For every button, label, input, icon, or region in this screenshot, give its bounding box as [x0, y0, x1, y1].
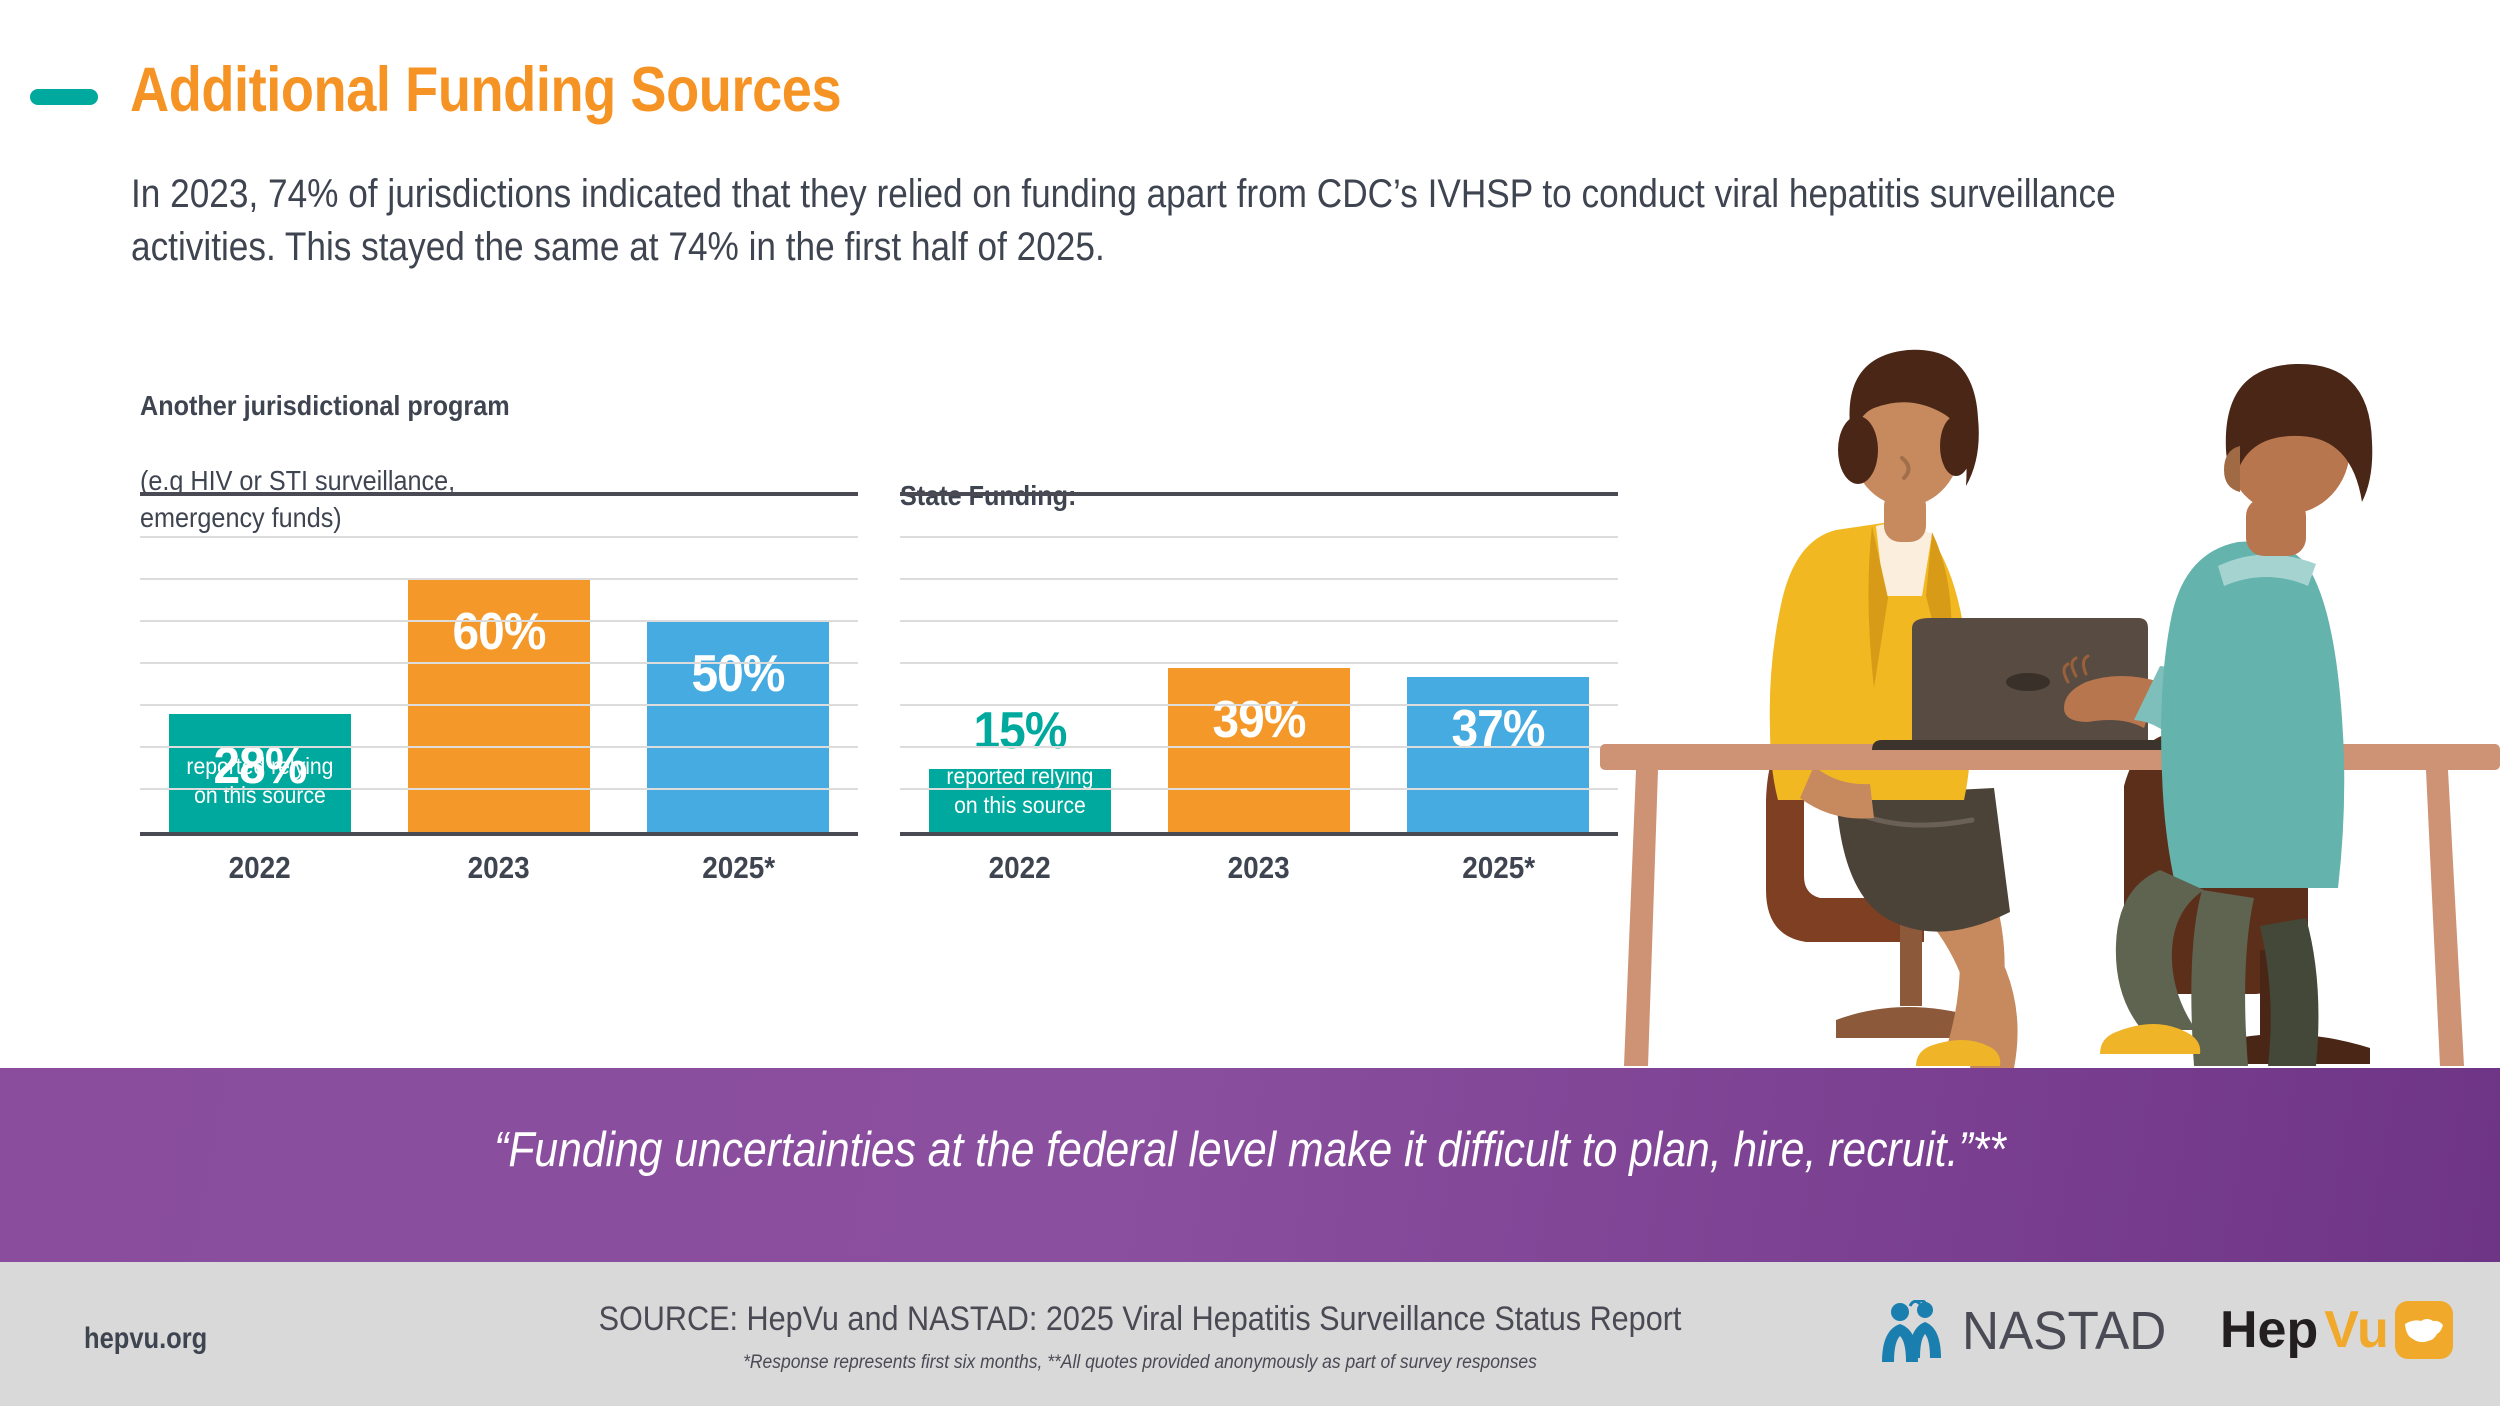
footer-fine-print: *Response represents first six months, *… [542, 1352, 1738, 1374]
slide-root: Additional Funding Sources In 2023, 74% … [0, 0, 2500, 1406]
quote-text: “Funding uncertainties at the federal le… [163, 1122, 2338, 1178]
x-tick-label: 2022 [912, 850, 1127, 886]
hepvu-logo: Hep Vu [2220, 1300, 2453, 1360]
x-tick-label: 2022 [152, 850, 367, 886]
bar-value-label: 60% [415, 602, 582, 662]
chart-2-bars: 15%reported relying on this source39%37% [900, 496, 1618, 832]
gridline [900, 536, 1618, 538]
bar-2023[interactable]: 60% [408, 580, 590, 832]
illustration-two-people-at-desk [1600, 330, 2500, 1070]
nastad-people-icon [1880, 1300, 1952, 1362]
page-title: Additional Funding Sources [130, 54, 841, 126]
chart-1-bars: 28%reported relying on this source60%50% [140, 496, 858, 832]
gridline [140, 536, 858, 538]
accent-dash-icon [30, 89, 98, 105]
chart-1-plot-area: 28%reported relying on this source60%50% [140, 492, 858, 836]
bar-2025[interactable]: 37% [1407, 677, 1589, 832]
chart-2-x-axis-labels: 202220232025* [900, 850, 1620, 898]
x-tick-label: 2025* [1391, 850, 1606, 886]
x-tick-label: 2025* [631, 850, 846, 886]
bar-2023[interactable]: 39% [1168, 668, 1350, 832]
gridline [900, 620, 1618, 622]
gridline [900, 704, 1618, 706]
bar-value-label: 37% [1415, 699, 1582, 759]
gridline [140, 746, 858, 748]
bar-note-label: reported relying on this source [936, 762, 1103, 821]
bar-note-label: reported relying on this source [176, 752, 343, 811]
gridline [140, 620, 858, 622]
gridline [900, 578, 1618, 580]
nastad-logo: NASTAD [1880, 1300, 2177, 1362]
chart-2-plot-area: 15%reported relying on this source39%37% [900, 492, 1618, 836]
gridline [140, 704, 858, 706]
hepvu-vu-wordmark: Vu [2324, 1300, 2389, 1360]
chart-1-title-bold: Another jurisdictional program [140, 390, 510, 421]
chart-1-x-axis-labels: 202220232025* [140, 850, 860, 898]
bar-value-label: 50% [655, 644, 822, 704]
bar-2022[interactable]: 28%reported relying on this source [169, 714, 351, 832]
nastad-wordmark: NASTAD [1962, 1300, 2166, 1362]
bar-2022[interactable]: 15%reported relying on this source [929, 769, 1111, 832]
footer-site-link[interactable]: hepvu.org [84, 1322, 207, 1356]
gridline [900, 662, 1618, 664]
footer-source-text: SOURCE: HepVu and NASTAD: 2025 Viral Hep… [555, 1300, 1725, 1339]
hepvu-map-icon [2395, 1301, 2453, 1359]
gridline [900, 788, 1618, 790]
hepvu-hep-wordmark: Hep [2220, 1300, 2318, 1360]
gridline [140, 578, 858, 580]
bar-value-label: 39% [1175, 690, 1342, 750]
bar-2025[interactable]: 50% [647, 622, 829, 832]
gridline [140, 788, 858, 790]
x-tick-label: 2023 [1151, 850, 1366, 886]
page-subtitle: In 2023, 74% of jurisdictions indicated … [131, 168, 2155, 274]
bar-value-label: 15% [936, 701, 1103, 761]
gridline [140, 662, 858, 664]
x-tick-label: 2023 [391, 850, 606, 886]
gridline [900, 746, 1618, 748]
